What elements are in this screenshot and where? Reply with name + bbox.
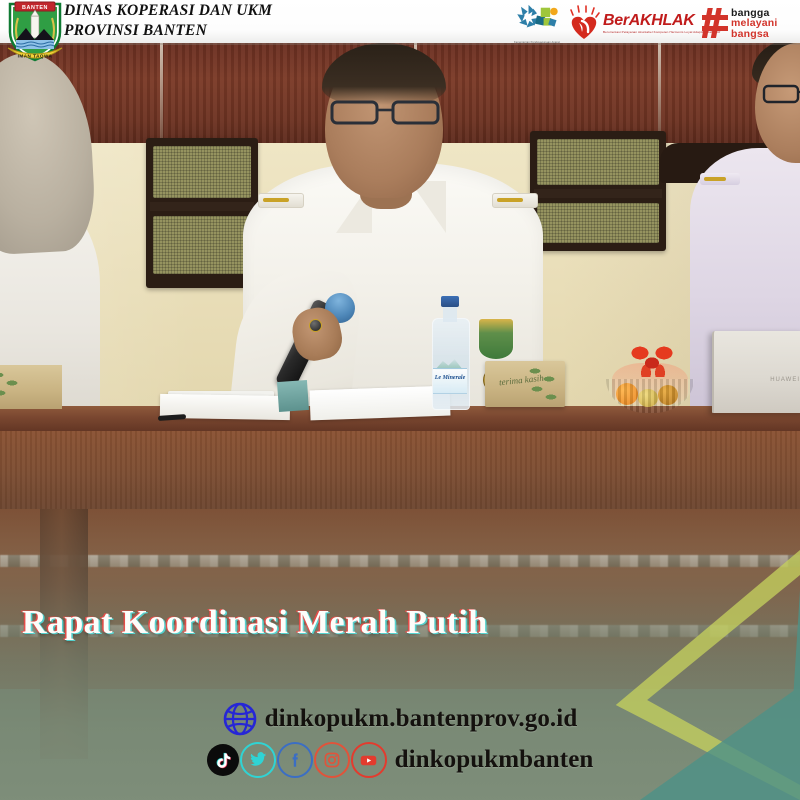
office-title: DINAS KOPERASI DAN UKM PROVINSI BANTEN bbox=[64, 1, 272, 41]
wall-seam bbox=[160, 43, 163, 145]
globe-icon bbox=[223, 702, 257, 736]
website-url[interactable]: dinkopukm.bantenprov.go.id bbox=[265, 705, 578, 733]
laptop-brand: HUAWEI bbox=[770, 377, 800, 383]
laptop: HUAWEI bbox=[712, 331, 800, 413]
table-edge bbox=[0, 431, 800, 509]
fruit-gift-basket bbox=[602, 343, 698, 413]
bangga-wordmark-group: bangga melayani bangsa bbox=[731, 7, 778, 40]
water-bottle: Le Minerale bbox=[432, 296, 468, 408]
header-logo-cluster: Kementerian Pendayagunaan Aparatur Negar… bbox=[514, 2, 794, 44]
office-title-line2: PROVINSI BANTEN bbox=[64, 21, 272, 41]
papers-centre bbox=[310, 386, 451, 421]
speaker-ring-black bbox=[309, 319, 322, 332]
social-icon-group bbox=[207, 742, 387, 778]
social-media-poster: BANTEN IMAN TAQWA DINAS KOPE bbox=[0, 0, 800, 800]
kemenpan-rb-logo: Kementerian Pendayagunaan Aparatur Negar… bbox=[514, 3, 560, 43]
hashtag-icon bbox=[702, 6, 728, 40]
office-title-line1: DINAS KOPERASI DAN UKM bbox=[64, 1, 272, 21]
wall-seam bbox=[658, 43, 661, 145]
snack-box-left bbox=[0, 365, 62, 409]
tiktok-icon[interactable] bbox=[207, 744, 239, 776]
banten-coat-of-arms-icon: BANTEN IMAN TAQWA bbox=[4, 0, 66, 64]
twitter-icon[interactable] bbox=[240, 742, 276, 778]
pinwheel-logo bbox=[517, 5, 557, 28]
header-band: BANTEN IMAN TAQWA DINAS KOPE bbox=[0, 0, 800, 43]
snack-box-centre: terima kasih bbox=[485, 361, 565, 407]
chair bbox=[530, 131, 666, 251]
berakhlak-logo: BerAKHLAK Berorientasi Pelayanan Akuntab… bbox=[567, 3, 695, 43]
water-bottle-label: Le Minerale bbox=[433, 375, 467, 381]
speaker-glasses bbox=[330, 99, 442, 126]
meeting-photograph: AGUS WIBOWO bbox=[0, 43, 800, 800]
person-right-epaulette bbox=[700, 173, 740, 185]
table-glass-strip bbox=[0, 555, 800, 567]
heart-icon bbox=[567, 5, 601, 41]
website-row[interactable]: dinkopukm.bantenprov.go.id bbox=[223, 702, 578, 736]
kemenpan-caption: Kementerian Pendayagunaan Aparatur Negar… bbox=[514, 41, 560, 44]
speaker-epaulette-right bbox=[492, 193, 538, 208]
banten-shoulder-patch bbox=[478, 318, 514, 360]
bangga-melayani-bangsa-logo: bangga melayani bangsa bbox=[702, 3, 794, 43]
teal-folder bbox=[277, 380, 309, 412]
poster-title: Rapat Koordinasi Merah Putih bbox=[22, 604, 488, 642]
youtube-icon[interactable] bbox=[351, 742, 387, 778]
person-right-glasses bbox=[762, 83, 800, 105]
bangga-line3: bangsa bbox=[731, 29, 778, 40]
speaker-epaulette-left bbox=[258, 193, 304, 208]
svg-text:IMAN TAQWA: IMAN TAQWA bbox=[18, 54, 53, 59]
contact-block: dinkopukm.bantenprov.go.id bbox=[0, 702, 800, 780]
social-handle[interactable]: dinkopukmbanten bbox=[395, 746, 594, 774]
social-row[interactable]: dinkopukmbanten bbox=[207, 742, 594, 780]
chair bbox=[146, 138, 258, 288]
instagram-icon[interactable] bbox=[314, 742, 350, 778]
facebook-icon[interactable] bbox=[277, 742, 313, 778]
